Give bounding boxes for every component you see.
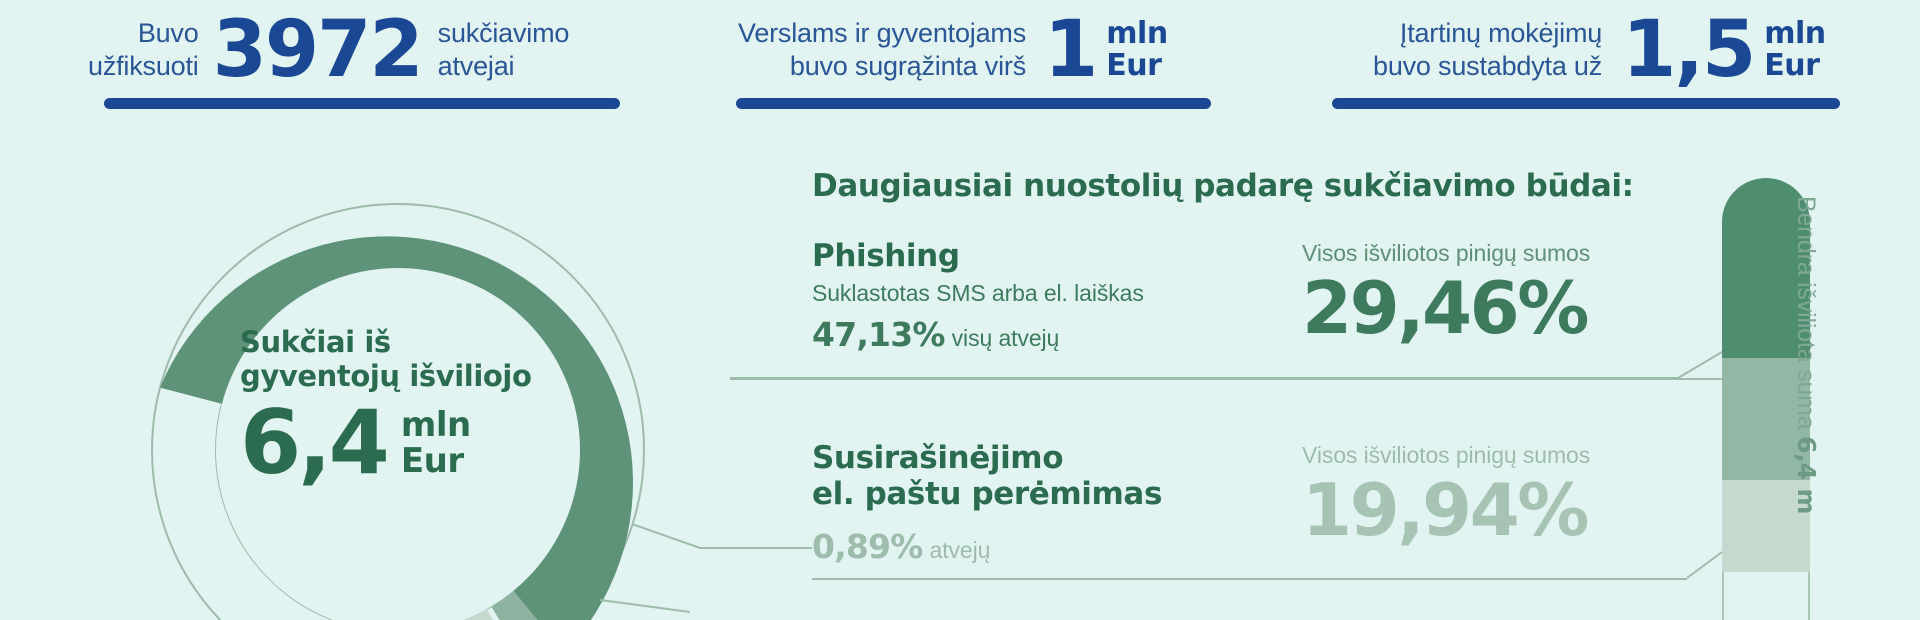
method-item-phishing: Phishing Suklastotas SMS arba el. laiška… (812, 238, 1712, 368)
method-sum-percent: 29,46% (1302, 270, 1722, 346)
method-percent-cases-suffix: visų atvejų (952, 323, 1060, 353)
infographic-page: Buvo užfiksuoti 3972 sukčiavimo atvejai … (0, 0, 1920, 620)
total-sum-bar-label-prefix: Bendra išviliota suma (1792, 196, 1820, 436)
donut-title: Sukčiai iš gyventojų išviliojo (240, 325, 570, 393)
stat-block-cases: Buvo užfiksuoti 3972 sukčiavimo atvejai (88, 10, 569, 90)
stat-number: 1,5 (1622, 11, 1754, 89)
method-percent-cases-suffix: atvejų (930, 535, 991, 565)
header-rule-1 (104, 98, 620, 109)
method-sum-label: Visos išviliotos pinigų sumos (1302, 238, 1722, 268)
method-right-column: Visos išviliotos pinigų sumos 19,94% (1302, 440, 1722, 548)
stat-label: Buvo užfiksuoti (88, 17, 199, 83)
header-rule-3 (1332, 98, 1840, 109)
method-divider-2 (812, 578, 1687, 580)
method-percent-cases: 47,13% (812, 316, 945, 354)
stat-unit: mln Eur (1106, 18, 1167, 82)
header-stats: Buvo užfiksuoti 3972 sukčiavimo atvejai … (0, 0, 1920, 115)
stat-block-blocked: Įtartinų mokėjimų buvo sustabdyta už 1,5… (1373, 10, 1826, 90)
method-name: Phishing (812, 238, 1292, 274)
header-rule-2 (736, 98, 1211, 109)
total-sum-bar-label: Bendra išviliota suma 6,4 m (1792, 196, 1820, 616)
stat-suffix: sukčiavimo atvejai (438, 17, 570, 83)
stat-unit: mln Eur (1764, 18, 1825, 82)
stat-label: Įtartinų mokėjimų buvo sustabdyta už (1373, 17, 1602, 83)
method-percent-cases: 0,89% (812, 528, 923, 566)
method-sum-percent: 19,94% (1302, 472, 1722, 548)
donut-value: 6,4 (240, 399, 387, 487)
method-description: Suklastotas SMS arba el. laiškas (812, 278, 1292, 308)
methods-heading: Daugiausiai nuostolių padarę sukčiavimo … (812, 168, 1634, 204)
donut-chart: Sukčiai iš gyventojų išviliojo 6,4 mln E… (88, 140, 708, 620)
method-item-email-interception: Susirašinėjimo el. paštu perėmimas 0,89%… (812, 440, 1712, 590)
stat-label: Verslams ir gyventojams buvo sugrąžinta … (738, 17, 1026, 83)
method-left-column: Susirašinėjimo el. paštu perėmimas 0,89%… (812, 440, 1292, 566)
donut-unit: mln Eur (401, 407, 471, 479)
method-name: Susirašinėjimo el. paštu perėmimas (812, 440, 1292, 512)
method-divider-1 (730, 378, 1785, 380)
total-sum-bar-label-value: 6,4 m (1792, 436, 1821, 514)
stat-number: 1 (1044, 11, 1096, 89)
method-sum-label: Visos išviliotos pinigų sumos (1302, 440, 1722, 470)
method-left-column: Phishing Suklastotas SMS arba el. laiška… (812, 238, 1292, 354)
stat-block-returned: Verslams ir gyventojams buvo sugrąžinta … (738, 10, 1168, 90)
method-right-column: Visos išviliotos pinigų sumos 29,46% (1302, 238, 1722, 346)
stat-number: 3972 (213, 11, 422, 89)
donut-center-text: Sukčiai iš gyventojų išviliojo 6,4 mln E… (240, 325, 570, 487)
